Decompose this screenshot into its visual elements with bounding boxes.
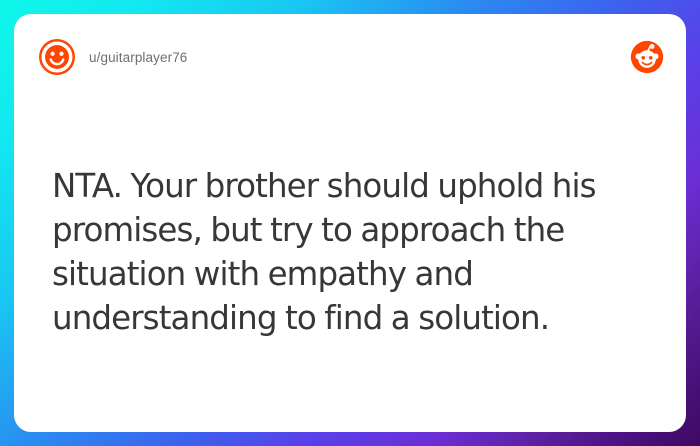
comment-line: NTA. Your brother should uphold his [52, 164, 646, 208]
comment-line: understanding to find a solution. [52, 296, 646, 340]
comment-card: u/guitarplayer76 NTA. Your [14, 14, 686, 432]
card-header: u/guitarplayer76 [14, 14, 686, 100]
author-username[interactable]: u/guitarplayer76 [89, 50, 187, 65]
smiley-face-avatar-icon [38, 38, 76, 76]
comment-text: NTA. Your brother should uphold his prom… [52, 164, 646, 340]
reddit-brand-logo[interactable] [630, 40, 664, 74]
reddit-snoo-logo-icon [630, 40, 664, 74]
gradient-background: u/guitarplayer76 NTA. Your [0, 0, 700, 446]
avatar[interactable] [38, 38, 76, 76]
card-body: NTA. Your brother should uphold his prom… [52, 164, 646, 340]
author-group[interactable]: u/guitarplayer76 [38, 38, 187, 76]
comment-line: promises, but try to approach the [52, 208, 646, 252]
comment-line: situation with empathy and [52, 252, 646, 296]
